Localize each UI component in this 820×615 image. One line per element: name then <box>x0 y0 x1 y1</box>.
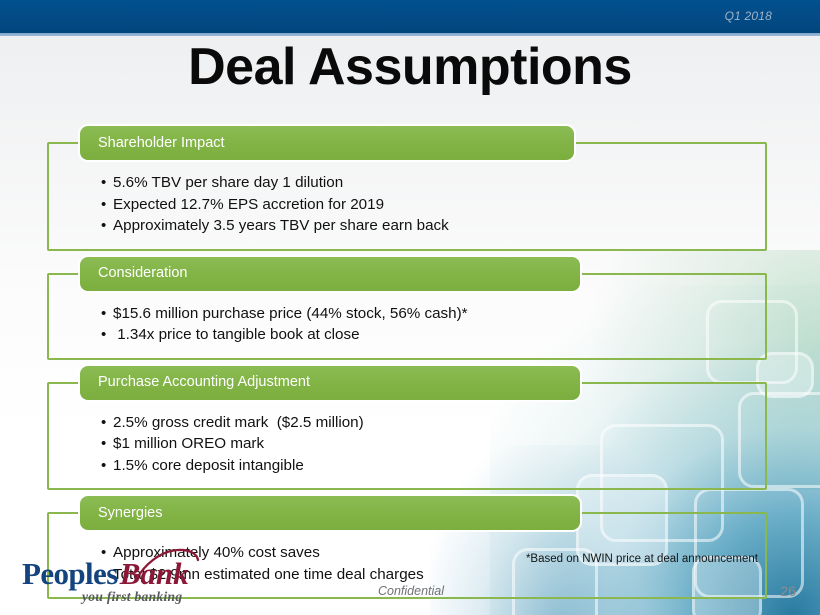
period-label: Q1 2018 <box>725 9 772 23</box>
section-heading-label: Shareholder Impact <box>98 136 225 151</box>
confidential-label: Confidential <box>378 584 444 598</box>
bullet-item: 5.6% TBV per share day 1 dilution <box>101 172 765 194</box>
logo-wordmark: PeoplesBank <box>22 556 189 592</box>
section-heading-tab: Consideration <box>80 257 580 291</box>
section-heading-tab: Purchase Accounting Adjustment <box>80 366 580 400</box>
section-purchase-accounting-adjustment: Purchase Accounting Adjustment 2.5% gros… <box>47 382 767 491</box>
bullet-item: 2.5% gross credit mark ($2.5 million) <box>101 412 765 434</box>
header-rule <box>0 33 820 36</box>
section-heading-label: Synergies <box>98 506 162 521</box>
section-heading-tab: Synergies <box>80 496 580 530</box>
section-heading-label: Consideration <box>98 266 187 281</box>
bullet-item: Approximately 3.5 years TBV per share ea… <box>101 215 765 237</box>
bullet-item: 1.5% core deposit intangible <box>101 455 765 477</box>
bullet-item: Expected 12.7% EPS accretion for 2019 <box>101 194 765 216</box>
slide: Q1 2018 Deal Assumptions Shareholder Imp… <box>0 0 820 615</box>
logo-word-peoples: Peoples <box>22 556 118 591</box>
logo-tagline: you first banking <box>82 589 182 605</box>
peoples-bank-logo: PeoplesBank you first banking <box>22 556 232 606</box>
sections-container: Shareholder Impact 5.6% TBV per share da… <box>47 142 767 599</box>
logo-word-bank: Bank <box>120 556 189 591</box>
page-title: Deal Assumptions <box>0 38 820 96</box>
section-heading-label: Purchase Accounting Adjustment <box>98 375 310 390</box>
bullet-item: $15.6 million purchase price (44% stock,… <box>101 303 765 325</box>
section-shareholder-impact: Shareholder Impact 5.6% TBV per share da… <box>47 142 767 251</box>
footnote: *Based on NWIN price at deal announcemen… <box>526 553 758 565</box>
bullet-item: 1.34x price to tangible book at close <box>101 324 765 346</box>
bullet-item: $1 million OREO mark <box>101 433 765 455</box>
section-consideration: Consideration $15.6 million purchase pri… <box>47 273 767 360</box>
header-bar <box>0 0 820 33</box>
page-number: 26 <box>780 583 796 599</box>
section-heading-tab: Shareholder Impact <box>80 126 574 160</box>
